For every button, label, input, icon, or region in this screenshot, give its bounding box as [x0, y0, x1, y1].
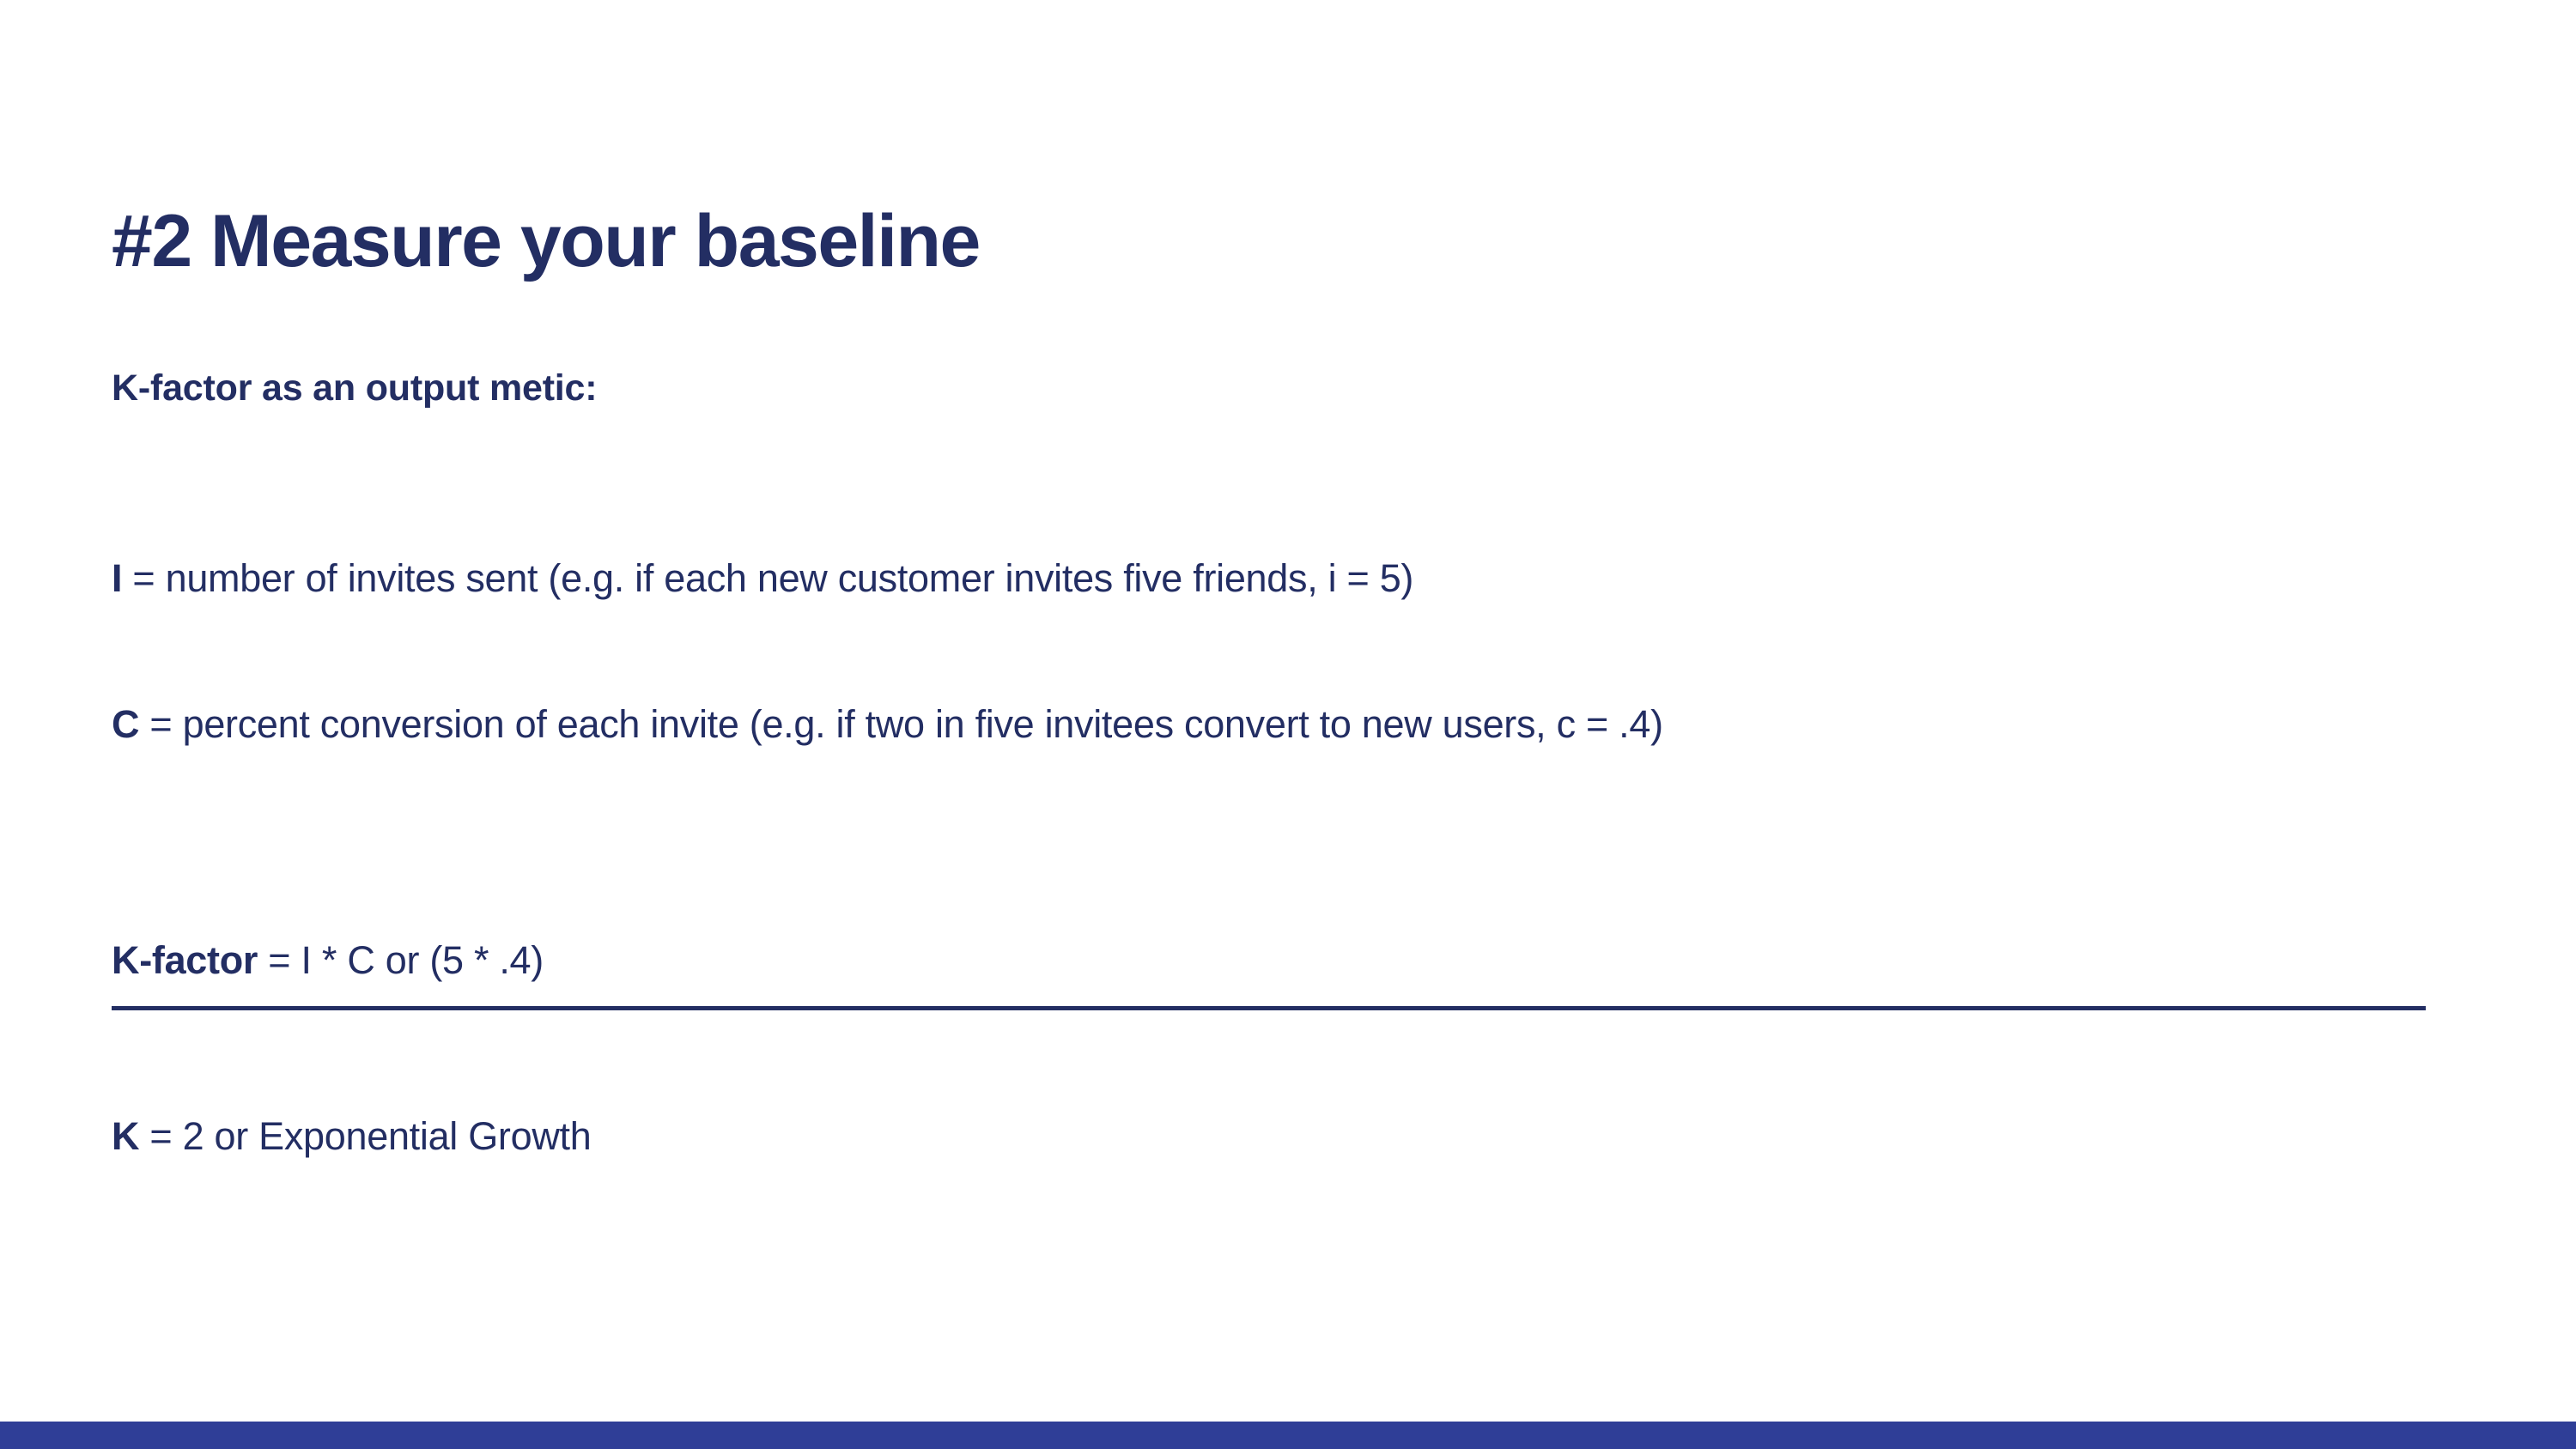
definition-conversion: C = percent conversion of each invite (e… [112, 698, 2379, 751]
definition-conversion-symbol: C [112, 702, 139, 746]
slide: #2 Measure your baseline K-factor as an … [0, 0, 2576, 1449]
kfactor-result-text: = 2 or Exponential Growth [139, 1114, 591, 1158]
definition-invites-text: = number of invites sent (e.g. if each n… [122, 556, 1413, 600]
definition-invites: I = number of invites sent (e.g. if each… [112, 552, 2473, 605]
section-subheading: K-factor as an output metic: [112, 365, 597, 413]
footer-accent-bar [0, 1422, 2576, 1449]
kfactor-result-symbol: K [112, 1114, 139, 1158]
page-title: #2 Measure your baseline [112, 203, 980, 280]
definition-kfactor-formula: K-factor = I * C or (5 * .4) [112, 934, 2344, 987]
horizontal-divider [112, 1006, 2426, 1010]
definition-invites-symbol: I [112, 556, 122, 600]
definition-conversion-text: = percent conversion of each invite (e.g… [139, 702, 1663, 746]
definition-kfactor-text: = I * C or (5 * .4) [258, 938, 544, 982]
kfactor-result: K = 2 or Exponential Growth [112, 1110, 2344, 1163]
definition-kfactor-symbol: K-factor [112, 938, 258, 982]
